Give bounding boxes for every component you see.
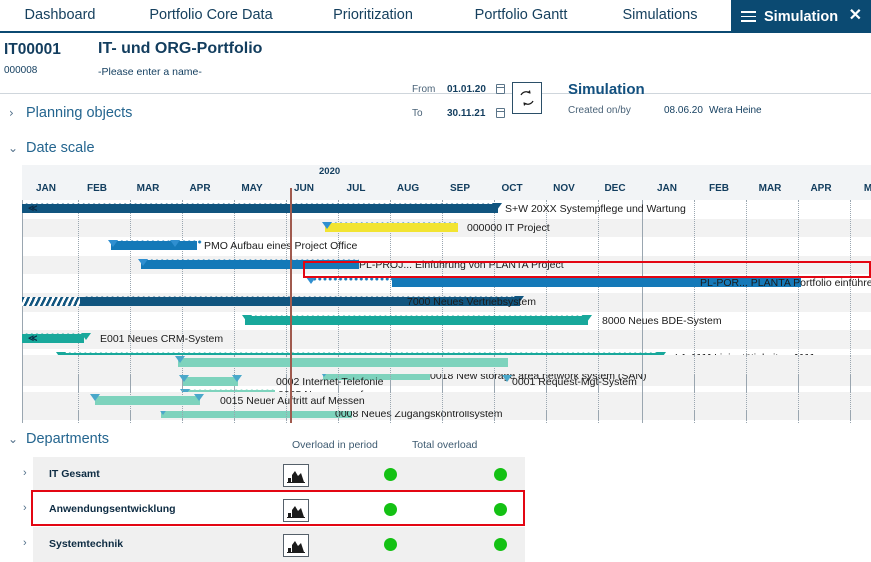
to-label: To — [412, 108, 423, 119]
month-tick: FEB — [699, 183, 739, 194]
status-badge-overload-in-period — [384, 538, 397, 551]
gantt-row-bg — [22, 411, 871, 423]
calendar-icon[interactable] — [496, 84, 505, 94]
gantt-milestone-marker — [242, 315, 252, 322]
gantt-year-label: 2020 — [319, 166, 340, 177]
gantt-milestone-marker — [232, 375, 242, 382]
table-row[interactable]: › Systemtechnik — [33, 527, 525, 562]
today-marker-line — [290, 188, 292, 423]
gantt-bar-label: 7000 Neues Vertriebsystem — [407, 296, 536, 308]
from-date-field[interactable]: 01.01.20 — [447, 84, 486, 95]
status-badge-overload-in-period — [384, 468, 397, 481]
gantt-bar[interactable] — [95, 396, 200, 405]
gantt-milestone-marker — [582, 315, 592, 322]
gantt-bar[interactable] — [178, 358, 508, 367]
month-tick: APR — [801, 183, 841, 194]
gantt-milestone-marker — [170, 240, 180, 247]
gantt-milestone-marker — [194, 394, 204, 401]
gantt-bar[interactable] — [245, 316, 588, 325]
portfolio-header: IT00001 000008 IT- und ORG-Portfolio -Pl… — [0, 35, 871, 94]
month-tick: AUG — [388, 183, 428, 194]
gantt-gridline — [78, 355, 79, 423]
table-row[interactable]: › IT Gesamt — [33, 457, 525, 492]
gantt-milestone-marker — [138, 259, 148, 266]
gantt-gridline — [850, 355, 851, 423]
simulation-title: Simulation — [568, 81, 645, 98]
chevron-down-icon[interactable]: ⌄ — [8, 432, 18, 446]
gantt-bar[interactable] — [111, 241, 197, 250]
month-tick: FEB — [77, 183, 117, 194]
month-tick: OCT — [492, 183, 532, 194]
refresh-button[interactable] — [512, 82, 542, 114]
gantt-month-scale: JAN FEB MAR APR MAY JUN JUL AUG SEP OCT … — [22, 179, 871, 201]
portfolio-sub-id: 000008 — [4, 65, 37, 76]
chevron-right-icon[interactable]: › — [23, 502, 27, 514]
scroll-left-icon[interactable]: ≪ — [28, 203, 36, 214]
gantt-milestone-marker — [90, 394, 100, 401]
page-title: IT- und ORG-Portfolio — [98, 40, 262, 58]
gantt-gridline — [598, 355, 599, 423]
gantt-bar[interactable] — [22, 204, 498, 213]
month-tick: SEP — [440, 183, 480, 194]
month-tick: MAR — [128, 183, 168, 194]
hamburger-icon[interactable] — [741, 11, 756, 22]
gantt-bar-label: PL-POR... PLANTA Portfolio einführen — [700, 277, 871, 289]
gantt-bar[interactable] — [325, 223, 458, 232]
month-tick: MAR — [750, 183, 790, 194]
portfolio-name-field[interactable]: -Please enter a name- — [98, 66, 202, 78]
tab-dashboard[interactable]: Dashboard — [8, 0, 112, 31]
gantt-milestone-marker — [492, 203, 502, 210]
month-tick: JAN — [647, 183, 687, 194]
gantt-year-scale: 2020 — [22, 165, 871, 179]
scroll-left-icon[interactable]: ≪ — [28, 333, 36, 344]
tab-simulation-active[interactable]: Simulation ✕ — [731, 0, 871, 33]
gantt-milestone-marker — [108, 240, 118, 247]
portfolio-id: IT00001 — [4, 41, 61, 59]
chevron-right-icon[interactable]: › — [9, 106, 14, 120]
created-on-by-label: Created on/by — [568, 105, 631, 116]
tab-simulation-label: Simulation — [764, 9, 838, 25]
tab-portfolio-core-data[interactable]: Portfolio Core Data — [130, 0, 292, 31]
gantt-bar-label: PMO Aufbau eines Project Office — [204, 240, 357, 252]
created-date: 08.06.20 — [664, 105, 703, 116]
gantt-gridline — [746, 355, 747, 423]
gantt-bar-hatched[interactable] — [22, 297, 82, 306]
month-tick: MAY — [232, 183, 272, 194]
gantt-bar-label: 0002 Internet-Telefonie — [276, 376, 383, 388]
gantt-gridline — [694, 355, 695, 423]
chevron-right-icon[interactable]: › — [23, 467, 27, 479]
month-tick: M — [848, 183, 871, 194]
bar-chart-icon[interactable] — [283, 464, 309, 487]
gantt-year-gridline — [642, 355, 643, 423]
to-date-field[interactable]: 30.11.21 — [447, 108, 485, 119]
month-tick: APR — [180, 183, 220, 194]
gantt-milestone-marker — [502, 375, 512, 382]
department-name: IT Gesamt — [49, 468, 100, 480]
gantt-gridline — [798, 355, 799, 423]
month-tick: JUL — [336, 183, 376, 194]
column-header-overload-in-period: Overload in period — [292, 439, 378, 451]
gantt-left-edge — [22, 355, 23, 423]
main-tab-bar: Dashboard Portfolio Core Data Prioritiza… — [0, 0, 871, 33]
chevron-right-icon[interactable]: › — [23, 537, 27, 549]
gantt-milestone-marker — [306, 277, 316, 284]
gantt-bar-label: E001 Neues CRM-System — [100, 333, 223, 345]
tab-portfolio-gantt[interactable]: Portfolio Gantt — [455, 0, 587, 31]
gantt-milestone-marker — [81, 333, 91, 340]
section-planning-objects[interactable]: Planning objects — [26, 105, 132, 121]
gantt-bar-label: 000000 IT Project — [467, 222, 550, 234]
gantt-bar-label: 0001 Request-Mgt-System — [512, 376, 637, 388]
status-badge-total-overload — [494, 468, 507, 481]
close-icon[interactable]: ✕ — [849, 6, 862, 26]
bar-chart-icon[interactable] — [283, 534, 309, 557]
column-header-total-overload: Total overload — [412, 439, 477, 451]
refresh-cycle-icon — [517, 88, 537, 108]
section-date-scale[interactable]: Date scale — [26, 140, 95, 156]
highlighted-department-row — [31, 490, 525, 526]
gantt-milestone-marker — [322, 222, 332, 229]
month-tick: DEC — [595, 183, 635, 194]
month-tick: NOV — [544, 183, 584, 194]
calendar-icon[interactable] — [496, 108, 505, 118]
gantt-bar-label: 8000 Neues BDE-System — [602, 315, 722, 327]
chevron-down-icon[interactable]: ⌄ — [8, 141, 18, 155]
gantt-row-bg — [22, 374, 871, 393]
gantt-bar-label: 0015 Neuer Auftritt auf Messen — [220, 395, 365, 407]
gantt-gridline — [546, 355, 547, 423]
tab-prioritization[interactable]: Prioritization — [313, 0, 433, 31]
gantt-milestone-marker — [175, 356, 185, 363]
month-tick: JAN — [26, 183, 66, 194]
gantt-milestone-marker — [179, 375, 189, 382]
department-name: Systemtechnik — [49, 538, 123, 550]
gantt-gridline — [130, 355, 131, 423]
gantt-bar-label: S+W 20XX Systempflege und Wartung — [505, 203, 686, 215]
from-label: From — [412, 84, 435, 95]
tab-simulations[interactable]: Simulations — [608, 0, 712, 31]
highlighted-gantt-row — [303, 261, 871, 278]
section-departments[interactable]: Departments — [26, 431, 109, 447]
created-by-user: Wera Heine — [709, 105, 762, 116]
gantt-bar[interactable] — [183, 377, 238, 386]
status-badge-total-overload — [494, 538, 507, 551]
